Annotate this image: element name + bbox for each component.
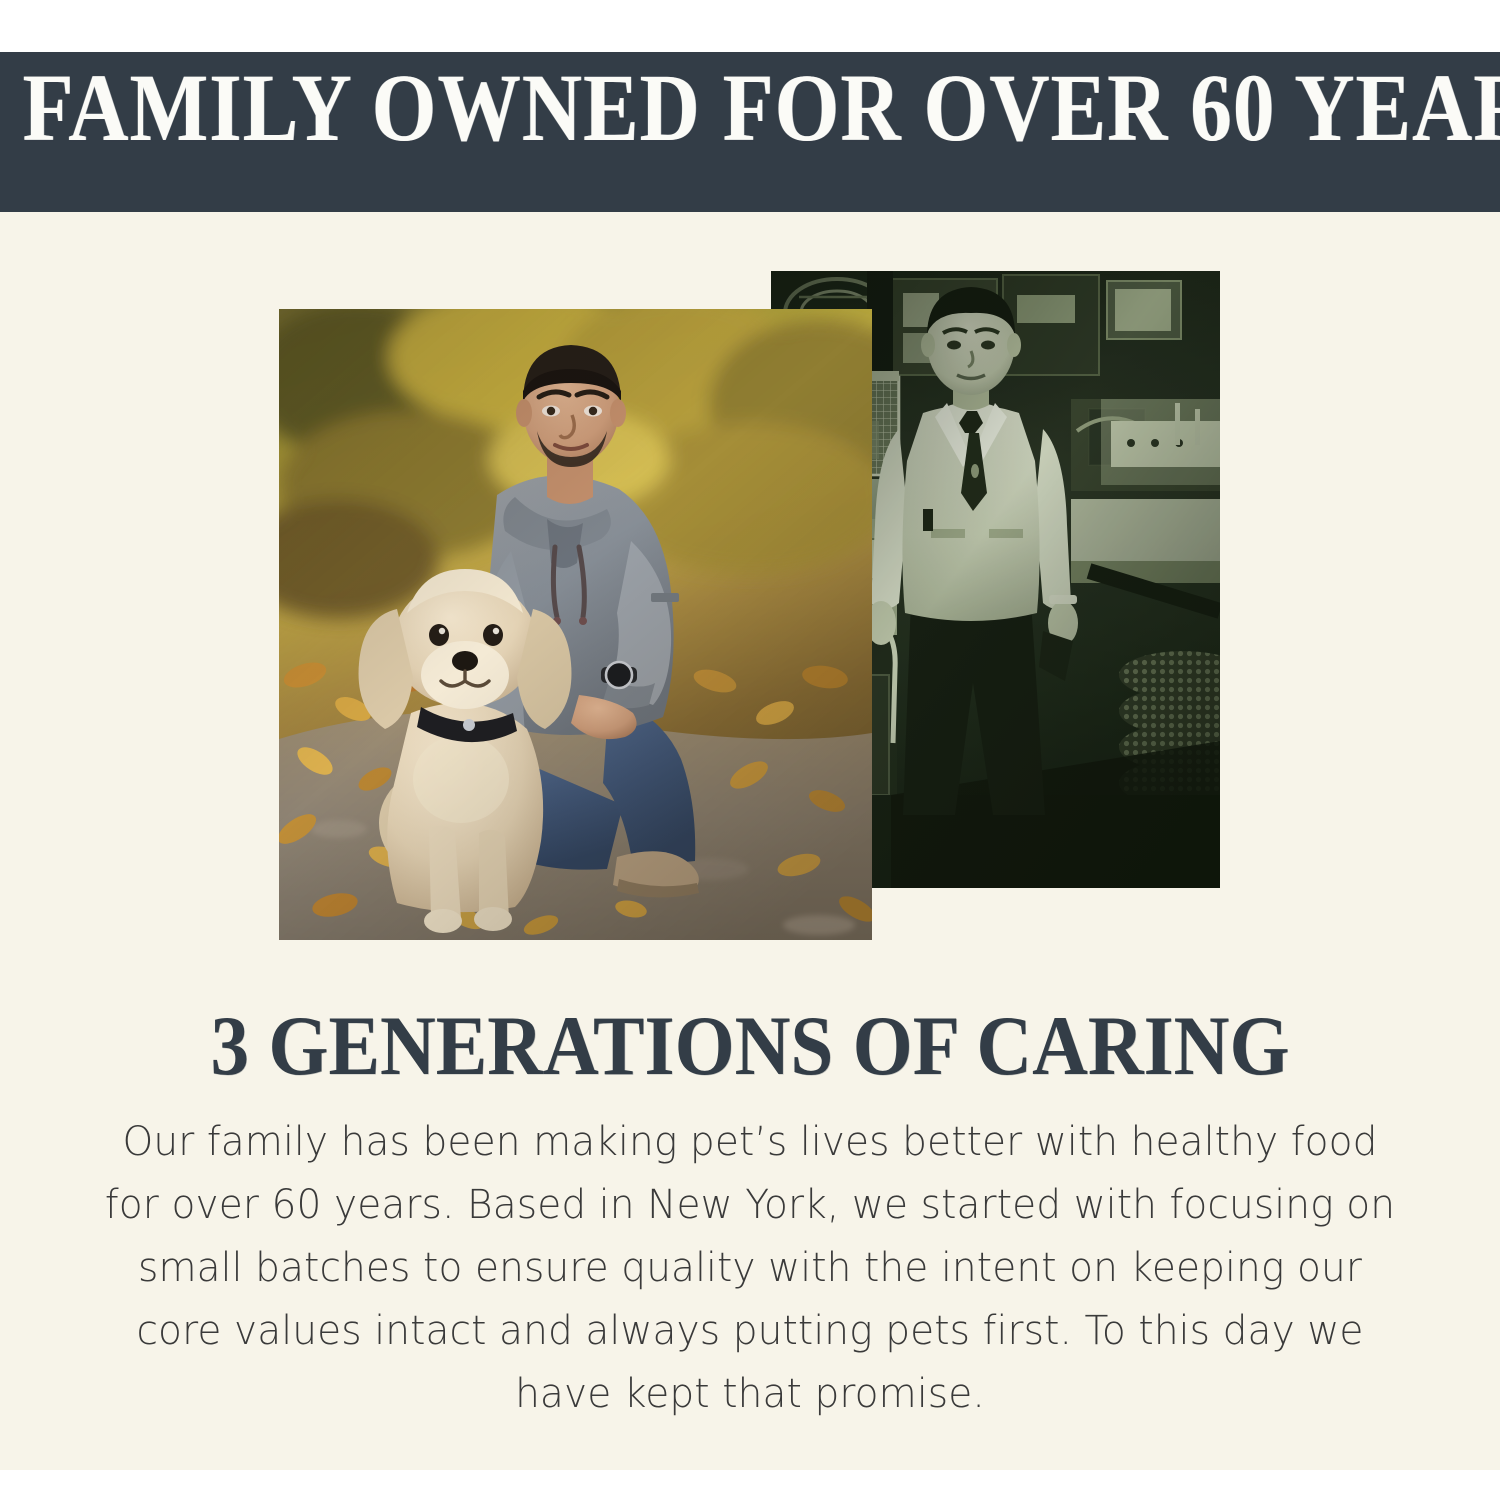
page-title: 3 GENERATIONS OF CARING bbox=[8, 996, 1493, 1095]
about-content: 3 GENERATIONS OF CARING Our family has b… bbox=[0, 1000, 1500, 1425]
page-root: FAMILY OWNED FOR OVER 60 YEARS bbox=[0, 0, 1500, 1500]
about-paragraph: Our family has been making pet’s lives b… bbox=[103, 1110, 1396, 1425]
photo-man-with-dog bbox=[279, 309, 872, 940]
